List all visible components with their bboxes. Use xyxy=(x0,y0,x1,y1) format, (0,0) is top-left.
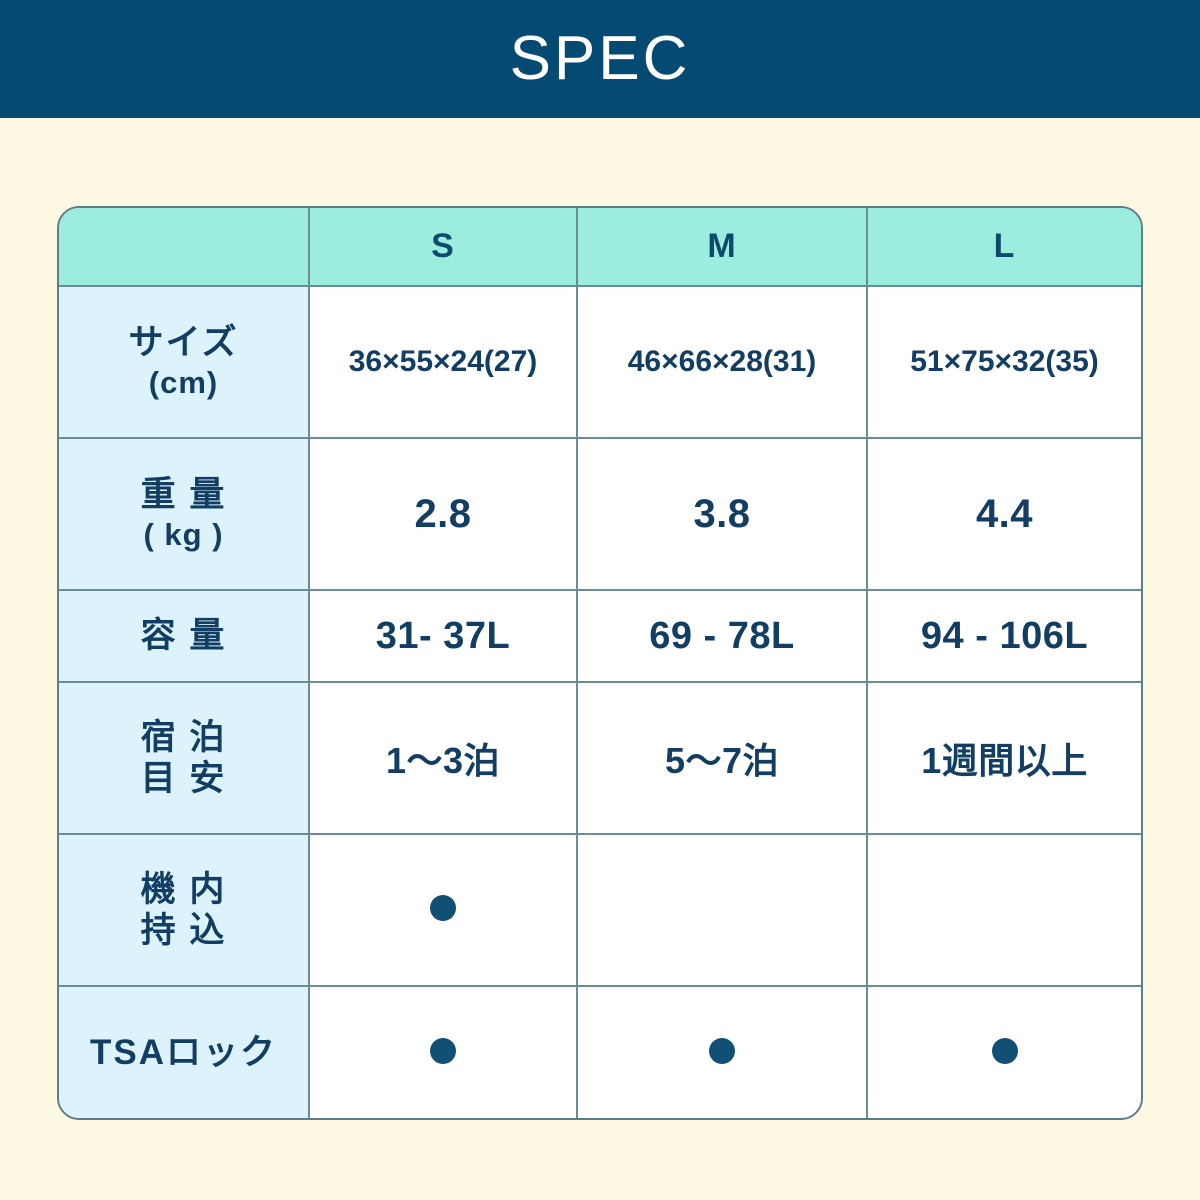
bullet-dot-icon xyxy=(709,1038,735,1064)
cell-size-m: 46×66×28(31) xyxy=(577,286,867,438)
bullet-dot-icon xyxy=(992,1038,1018,1064)
cell-weight-l: 4.4 xyxy=(867,438,1141,590)
spec-table-header: S M L xyxy=(59,208,1141,286)
row-label-cabin: 機 内 持 込 xyxy=(59,834,309,986)
cell-cabin-l xyxy=(867,834,1141,986)
row-label-weight-main: 重 量 xyxy=(59,474,308,515)
table-row: サイズ (cm) 36×55×24(27) 46×66×28(31) 51×75… xyxy=(59,286,1141,438)
cell-tsa-s xyxy=(309,986,577,1118)
page-title: SPEC xyxy=(510,28,691,90)
cell-size-l: 51×75×32(35) xyxy=(867,286,1141,438)
row-label-stay: 宿 泊 目 安 xyxy=(59,682,309,834)
row-label-size: サイズ (cm) xyxy=(59,286,309,438)
row-label-capacity-main: 容 量 xyxy=(59,615,308,656)
row-label-stay-line1: 宿 泊 xyxy=(59,717,308,758)
cell-stay-m: 5〜7泊 xyxy=(577,682,867,834)
column-header-m: M xyxy=(577,208,867,286)
table-row: 容 量 31- 37L 69 - 78L 94 - 106L xyxy=(59,590,1141,682)
cell-capacity-s: 31- 37L xyxy=(309,590,577,682)
table-row: TSAロック xyxy=(59,986,1141,1118)
row-label-size-unit: (cm) xyxy=(59,365,308,402)
row-label-size-main: サイズ xyxy=(59,322,308,363)
table-row: 重 量 ( kg ) 2.8 3.8 4.4 xyxy=(59,438,1141,590)
cell-stay-l: 1週間以上 xyxy=(867,682,1141,834)
spec-table-body: サイズ (cm) 36×55×24(27) 46×66×28(31) 51×75… xyxy=(59,286,1141,1118)
row-label-tsa-main: TSAロック xyxy=(59,1032,308,1073)
cell-tsa-l xyxy=(867,986,1141,1118)
column-header-s: S xyxy=(309,208,577,286)
spec-table: S M L サイズ (cm) 36×55×24(27) 46×66×28(31)… xyxy=(59,208,1141,1118)
spec-banner: SPEC xyxy=(0,0,1200,118)
table-row: 機 内 持 込 xyxy=(59,834,1141,986)
cell-cabin-m xyxy=(577,834,867,986)
row-label-weight: 重 量 ( kg ) xyxy=(59,438,309,590)
table-row: 宿 泊 目 安 1〜3泊 5〜7泊 1週間以上 xyxy=(59,682,1141,834)
row-label-weight-unit: ( kg ) xyxy=(59,517,308,554)
row-label-capacity: 容 量 xyxy=(59,590,309,682)
cell-cabin-s xyxy=(309,834,577,986)
column-header-blank xyxy=(59,208,309,286)
row-label-tsa: TSAロック xyxy=(59,986,309,1118)
row-label-cabin-line1: 機 内 xyxy=(59,869,308,910)
cell-tsa-m xyxy=(577,986,867,1118)
cell-size-s: 36×55×24(27) xyxy=(309,286,577,438)
bullet-dot-icon xyxy=(430,1038,456,1064)
cell-capacity-l: 94 - 106L xyxy=(867,590,1141,682)
column-header-l: L xyxy=(867,208,1141,286)
row-label-cabin-line2: 持 込 xyxy=(59,910,308,951)
cell-capacity-m: 69 - 78L xyxy=(577,590,867,682)
spec-page-body: S M L サイズ (cm) 36×55×24(27) 46×66×28(31)… xyxy=(0,118,1200,1200)
row-label-stay-line2: 目 安 xyxy=(59,758,308,799)
cell-stay-s: 1〜3泊 xyxy=(309,682,577,834)
table-header-row: S M L xyxy=(59,208,1141,286)
cell-weight-m: 3.8 xyxy=(577,438,867,590)
bullet-dot-icon xyxy=(430,895,456,921)
spec-table-container: S M L サイズ (cm) 36×55×24(27) 46×66×28(31)… xyxy=(57,206,1143,1120)
cell-weight-s: 2.8 xyxy=(309,438,577,590)
